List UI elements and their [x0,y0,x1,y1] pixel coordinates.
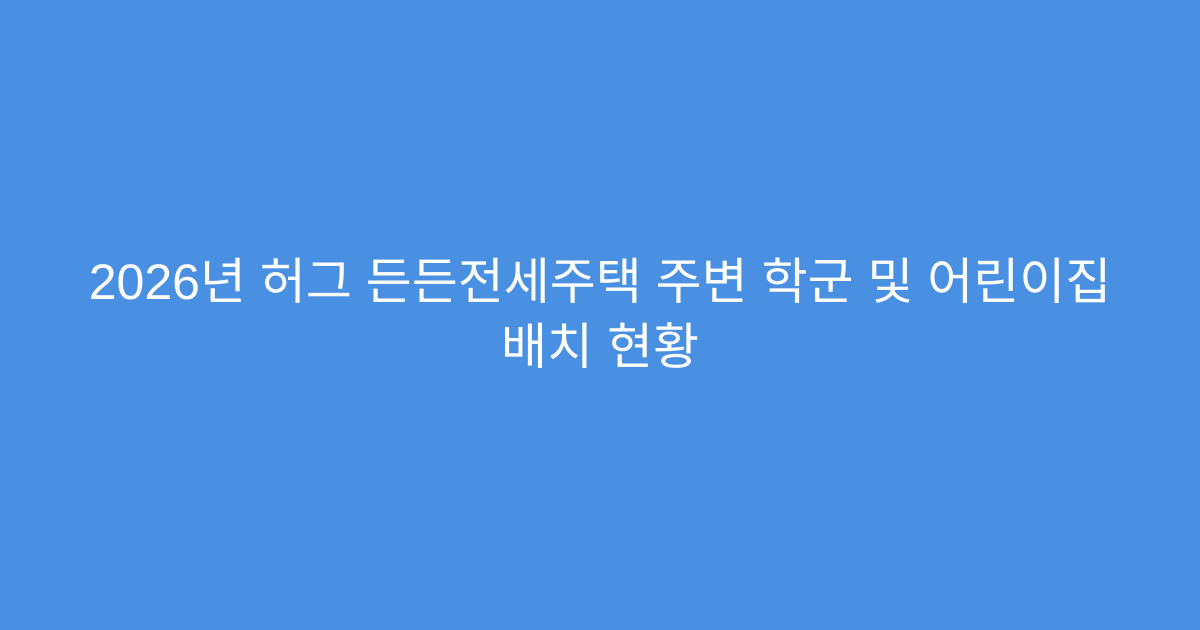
page-title: 2026년 허그 든든전세주택 주변 학군 및 어린이집 배치 현황 [75,250,1125,380]
banner-card: 2026년 허그 든든전세주택 주변 학군 및 어린이집 배치 현황 [0,0,1200,630]
title-block: 2026년 허그 든든전세주택 주변 학군 및 어린이집 배치 현황 [75,250,1125,380]
